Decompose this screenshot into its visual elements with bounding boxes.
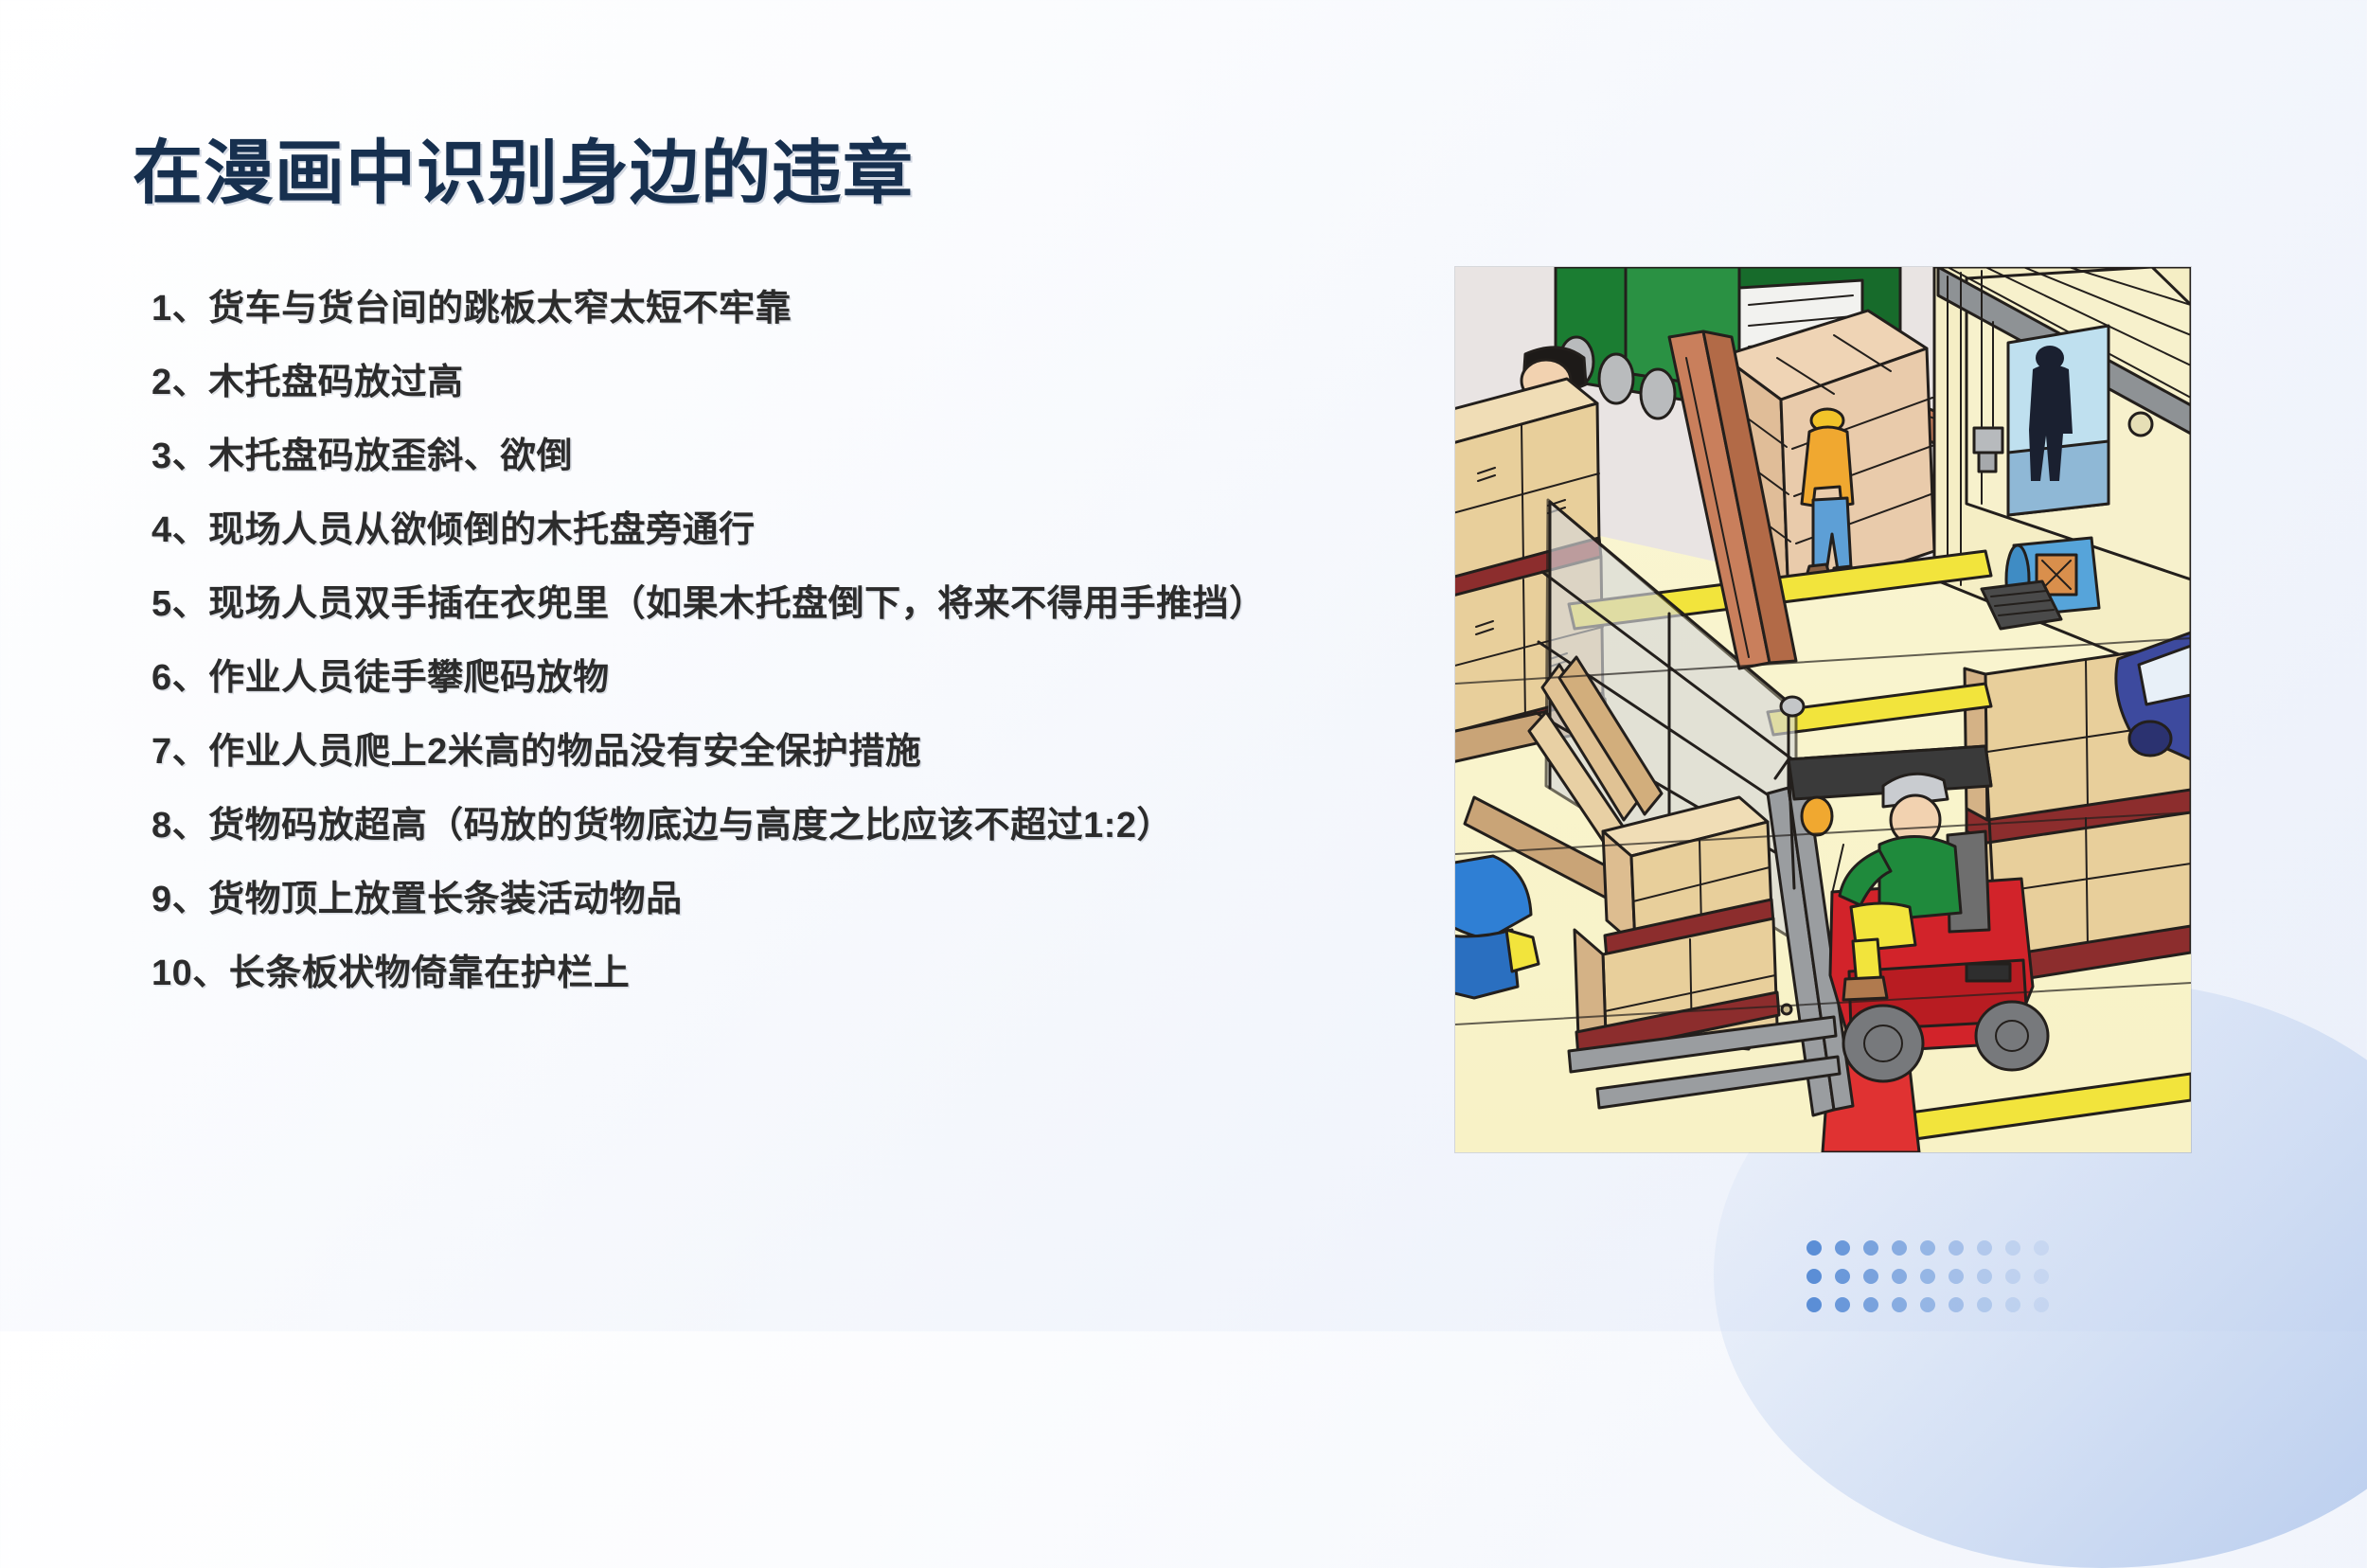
list-item: 10、长条板状物倚靠在护栏上 — [151, 949, 1411, 1000]
decor-dot — [2034, 1297, 2049, 1312]
list-item: 4、现场人员从欲倾倒的木托盘旁通行 — [151, 506, 1411, 557]
decor-dot — [2034, 1269, 2049, 1284]
decor-dot — [1892, 1240, 1907, 1256]
decor-dot — [1835, 1269, 1850, 1284]
decor-dot — [1949, 1269, 1964, 1284]
forklift-wheel-front — [1843, 1006, 1923, 1081]
list-item: 8、货物码放超高（码放的货物底边与高度之比应该不超过1:2） — [151, 801, 1411, 852]
list-item: 1、货车与货台间的跳板太窄太短不牢靠 — [151, 284, 1411, 335]
list-item: 6、作业人员徒手攀爬码放物 — [151, 653, 1411, 704]
page-title: 在漫画中识别身边的违章 — [133, 138, 914, 208]
decor-dot — [1863, 1297, 1878, 1312]
decor-dot — [1806, 1240, 1822, 1256]
decor-dot — [1863, 1269, 1878, 1284]
decor-dot — [1977, 1297, 1992, 1312]
list-item: 7、作业人员爬上2米高的物品没有安全保护措施 — [151, 727, 1411, 778]
violation-list: 1、货车与货台间的跳板太窄太短不牢靠 2、木托盘码放过高 3、木托盘码放歪斜、欲… — [151, 284, 1411, 1023]
decor-dot — [1977, 1269, 1992, 1284]
list-item: 5、现场人员双手插在衣兜里（如果木托盘倒下，将来不得用手推挡） — [151, 579, 1411, 631]
decor-dot — [1920, 1297, 1935, 1312]
list-item: 9、货物顶上放置长条装活动物品 — [151, 875, 1411, 926]
forklift-lamp — [1802, 797, 1832, 835]
decor-dot — [1949, 1240, 1964, 1256]
list-item: 2、木托盘码放过高 — [151, 358, 1411, 409]
list-item: 3、木托盘码放歪斜、欲倒 — [151, 432, 1411, 483]
decor-dot — [1835, 1240, 1850, 1256]
decor-dot — [2005, 1297, 2020, 1312]
decor-dot — [2034, 1240, 2049, 1256]
decor-dot — [1892, 1297, 1907, 1312]
decor-dot — [1892, 1269, 1907, 1284]
decor-dot — [1920, 1269, 1935, 1284]
decor-dot — [1920, 1240, 1935, 1256]
decor-dot — [2005, 1240, 2020, 1256]
decor-dot — [1977, 1240, 1992, 1256]
driver-shoe — [1843, 977, 1887, 1000]
decor-dot — [2005, 1269, 2020, 1284]
dot-grid-decoration — [1806, 1240, 2062, 1326]
decor-dot — [1806, 1269, 1822, 1284]
decor-dot — [1863, 1240, 1878, 1256]
warehouse-safety-illustration: .ol{stroke:#231f1c;stroke-width:3;stroke… — [1455, 267, 2191, 1152]
decor-dot — [1806, 1297, 1822, 1312]
forklift-wheel-rear — [1976, 1002, 2048, 1070]
decor-dot — [1835, 1297, 1850, 1312]
decor-dot — [1949, 1297, 1964, 1312]
